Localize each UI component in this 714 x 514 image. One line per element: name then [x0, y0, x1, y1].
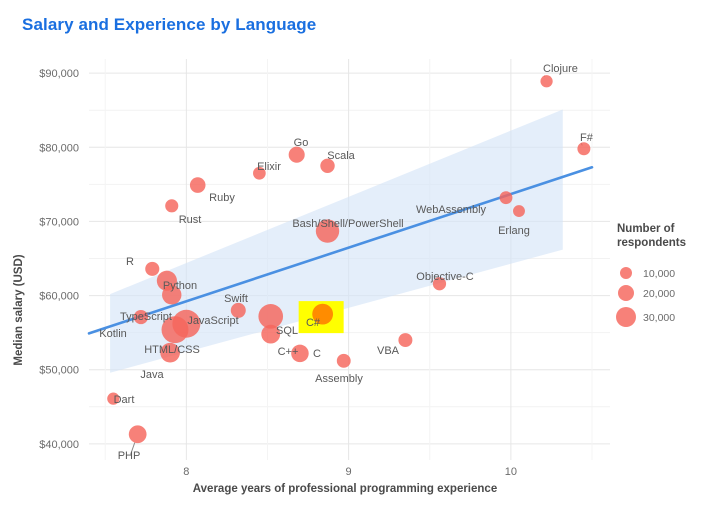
data-point-bubble[interactable]: [129, 425, 147, 443]
data-point-label: Python: [163, 280, 197, 292]
data-point-bubble[interactable]: [165, 199, 178, 212]
data-point-label: Kotlin: [99, 328, 127, 340]
legend-size-bubble: [616, 307, 636, 327]
legend-size-label: 10,000: [643, 268, 675, 280]
data-point-label: SQL: [276, 325, 298, 337]
data-point-label: C: [313, 348, 321, 360]
scatter-plot-svg: ClojureF#GoScalaElixirRubyWebAssemblyRus…: [0, 0, 714, 514]
data-point-label: Swift: [224, 293, 248, 305]
data-point-label: Assembly: [315, 373, 363, 385]
data-point-label: VBA: [377, 345, 400, 357]
data-point-label: Rust: [179, 214, 202, 226]
data-point-bubble[interactable]: [577, 142, 590, 155]
legend-title-line2: respondents: [617, 237, 686, 249]
legend-size-bubble: [618, 285, 634, 301]
data-point-label: Erlang: [498, 225, 530, 237]
y-axis-title: Median salary (USD): [13, 254, 25, 365]
data-point-label: R: [126, 256, 134, 268]
x-axis-title: Average years of professional programmin…: [193, 483, 497, 495]
data-point-label: Go: [294, 137, 309, 149]
y-axis-tick-label: $90,000: [39, 68, 79, 80]
data-point-bubble[interactable]: [398, 333, 412, 347]
data-point-label: TypeScript: [120, 311, 172, 323]
data-point-label: F#: [580, 132, 594, 144]
legend-size-label: 20,000: [643, 288, 675, 300]
size-legend: Number ofrespondents10,00020,00030,000: [616, 223, 686, 327]
data-point-label: JavaScript: [187, 315, 238, 327]
data-point-bubble[interactable]: [289, 147, 305, 163]
y-axis-tick-label: $80,000: [39, 142, 79, 154]
data-point-label: Dart: [114, 394, 135, 406]
data-point-bubble[interactable]: [190, 177, 206, 193]
y-axis-tick-label: $60,000: [39, 291, 79, 303]
chart-container: Salary and Experience by Language Clojur…: [0, 0, 714, 514]
data-point-label: Ruby: [209, 192, 235, 204]
legend-size-bubble: [620, 267, 632, 279]
y-axis-ticks: $40,000$50,000$60,000$70,000$80,000$90,0…: [39, 68, 79, 451]
data-point-bubble[interactable]: [337, 354, 351, 368]
x-axis-tick-label: 10: [505, 466, 517, 478]
x-axis-ticks: 8910: [183, 466, 517, 478]
data-point-label: Objective-C: [416, 271, 474, 283]
data-point-label: Scala: [327, 150, 355, 162]
data-point-label: C#: [306, 317, 321, 329]
data-point-bubble[interactable]: [513, 205, 525, 217]
data-point-bubble[interactable]: [500, 191, 513, 204]
y-axis-tick-label: $40,000: [39, 439, 79, 451]
y-axis-tick-label: $70,000: [39, 216, 79, 228]
data-point-bubble[interactable]: [540, 75, 552, 87]
data-point-label: PHP: [118, 450, 141, 462]
data-point-label: Java: [140, 369, 164, 381]
y-axis-tick-label: $50,000: [39, 365, 79, 377]
data-point-label: HTML/CSS: [144, 344, 200, 356]
data-point-bubble[interactable]: [145, 262, 159, 276]
x-axis-tick-label: 9: [346, 466, 352, 478]
data-point-label: Clojure: [543, 63, 578, 75]
data-point-label: WebAssembly: [416, 204, 487, 216]
data-point-label: Bash/Shell/PowerShell: [292, 218, 403, 230]
data-point-label: C++: [278, 346, 299, 358]
data-point-label: Elixir: [257, 161, 281, 173]
legend-title-line1: Number of: [617, 223, 675, 235]
x-axis-tick-label: 8: [183, 466, 189, 478]
legend-size-label: 30,000: [643, 312, 675, 324]
